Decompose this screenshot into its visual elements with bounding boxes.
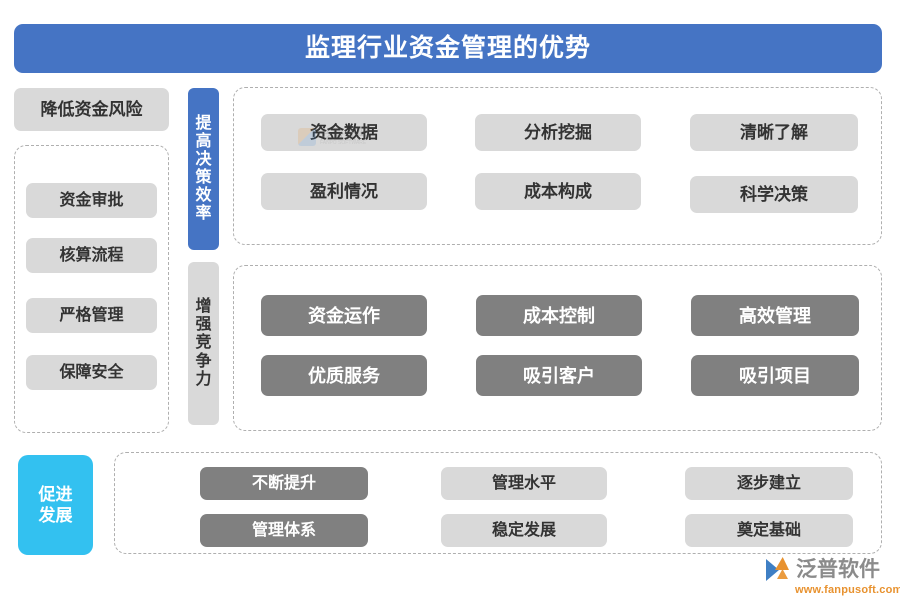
section2-pill-1-0[interactable]: 优质服务 (261, 355, 427, 396)
section1-pill-1-1-label: 成本构成 (524, 183, 592, 200)
section2-pill-1-2[interactable]: 吸引项目 (691, 355, 859, 396)
section3-pill-1-2[interactable]: 奠定基础 (685, 514, 853, 547)
section1-pill-0-0[interactable]: 资金数据 (261, 114, 427, 151)
vtab-compete-char-4: 力 (195, 371, 211, 389)
section2-pill-1-2-label: 吸引项目 (739, 367, 811, 385)
brand-url: www.fanpusoft.com (795, 585, 894, 596)
section2-pill-0-1[interactable]: 成本控制 (476, 295, 642, 336)
section2-pill-1-1[interactable]: 吸引客户 (476, 355, 642, 396)
vtab-compete-char-3: 争 (195, 353, 211, 371)
section2-pill-0-0-label: 资金运作 (308, 307, 380, 325)
section1-pill-1-2-label: 科学决策 (740, 186, 808, 203)
section2-pill-0-2[interactable]: 高效管理 (691, 295, 859, 336)
promote-development-box[interactable]: 促进 发展 (18, 455, 93, 555)
left-item-1[interactable]: 核算流程 (26, 238, 157, 273)
vtab-compete-char-1: 强 (195, 316, 211, 334)
vtab-decision-char-4: 效 (195, 187, 211, 205)
vertical-tab-decision-efficiency[interactable]: 提 高 决 策 效 率 (188, 88, 219, 250)
section3-pill-0-1-label: 管理水平 (492, 476, 556, 492)
section3-pill-0-1[interactable]: 管理水平 (441, 467, 607, 500)
left-top-box-reduce-risk[interactable]: 降低资金风险 (14, 88, 169, 131)
section3-pill-1-2-label: 奠定基础 (737, 523, 801, 539)
section2-pill-1-1-label: 吸引客户 (523, 367, 595, 385)
left-item-0[interactable]: 资金审批 (26, 183, 157, 218)
section3-pill-1-1[interactable]: 稳定发展 (441, 514, 607, 547)
vtab-decision-char-3: 策 (195, 169, 211, 187)
left-item-0-label: 资金审批 (59, 193, 123, 209)
section1-pill-0-2[interactable]: 清晰了解 (690, 114, 858, 151)
section-competitiveness-container (233, 265, 882, 431)
section1-pill-0-2-label: 清晰了解 (740, 124, 808, 141)
vtab-decision-char-2: 决 (195, 151, 211, 169)
vtab-compete-char-0: 增 (195, 298, 211, 316)
left-item-1-label: 核算流程 (59, 248, 123, 264)
promote-line-1: 发展 (39, 505, 73, 526)
section2-pill-1-0-label: 优质服务 (308, 367, 380, 385)
section1-pill-1-0-label: 盈利情况 (310, 183, 378, 200)
section3-pill-0-0-label: 不断提升 (252, 476, 316, 492)
left-item-2-label: 严格管理 (59, 308, 123, 324)
section1-pill-1-2[interactable]: 科学决策 (690, 176, 858, 213)
section1-pill-0-0-label: 资金数据 (310, 124, 378, 141)
promote-line-0: 促进 (39, 484, 73, 505)
vtab-decision-char-0: 提 (195, 115, 211, 133)
page-title: 监理行业资金管理的优势 (305, 36, 591, 61)
infographic-canvas: 监理行业资金管理的优势 降低资金风险 资金审批 核算流程 严格管理 保障安全 提… (0, 0, 900, 600)
section2-pill-0-0[interactable]: 资金运作 (261, 295, 427, 336)
section2-pill-0-1-label: 成本控制 (523, 307, 595, 325)
section3-pill-1-0-label: 管理体系 (252, 523, 316, 539)
page-title-bar: 监理行业资金管理的优势 (14, 24, 882, 73)
vtab-decision-char-5: 率 (195, 205, 211, 223)
left-item-3[interactable]: 保障安全 (26, 355, 157, 390)
section2-pill-0-2-label: 高效管理 (739, 307, 811, 325)
section1-pill-1-0[interactable]: 盈利情况 (261, 173, 427, 210)
section3-pill-0-0[interactable]: 不断提升 (200, 467, 368, 500)
vtab-compete-char-2: 竞 (195, 334, 211, 352)
brand-row: 泛普软件 (766, 556, 894, 583)
left-item-2[interactable]: 严格管理 (26, 298, 157, 333)
fanpu-logo-icon (766, 557, 793, 582)
vtab-decision-char-1: 高 (195, 133, 211, 151)
section-decision-efficiency-container (233, 87, 882, 245)
section1-pill-0-1-label: 分析挖掘 (524, 124, 592, 141)
brand-logo: 泛普软件 www.fanpusoft.com (766, 554, 894, 598)
vertical-tab-competitiveness[interactable]: 增 强 竞 争 力 (188, 262, 219, 425)
section3-pill-1-1-label: 稳定发展 (492, 523, 556, 539)
section1-pill-0-1[interactable]: 分析挖掘 (475, 114, 641, 151)
brand-name: 泛普软件 (796, 559, 880, 580)
left-item-3-label: 保障安全 (59, 365, 123, 381)
section3-pill-1-0[interactable]: 管理体系 (200, 514, 368, 547)
section3-pill-0-2-label: 逐步建立 (737, 476, 801, 492)
section3-pill-0-2[interactable]: 逐步建立 (685, 467, 853, 500)
left-top-box-label: 降低资金风险 (41, 101, 143, 118)
section1-pill-1-1[interactable]: 成本构成 (475, 173, 641, 210)
